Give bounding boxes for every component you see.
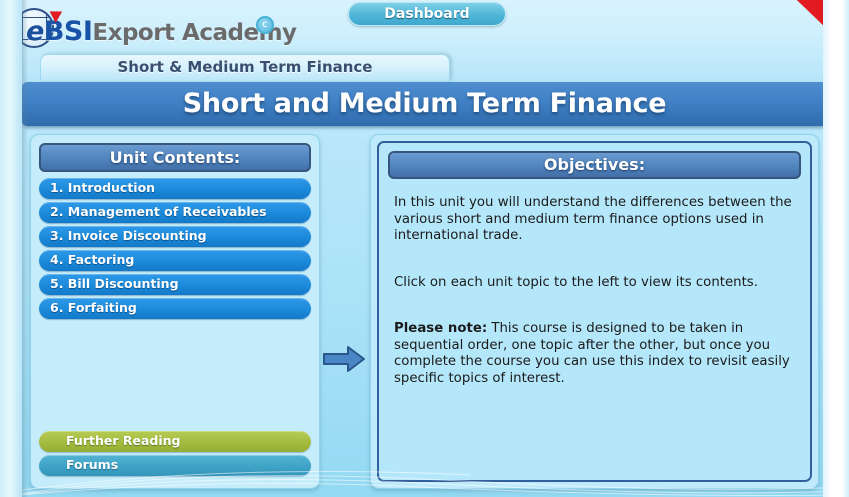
unit-contents-panel: Unit Contents: 1. Introduction 2. Manage… [30,134,320,489]
unit-contents-list: 1. Introduction 2. Management of Receiva… [39,178,311,319]
dashboard-button[interactable]: Dashboard [348,2,506,26]
sidebar-item-introduction[interactable]: 1. Introduction [39,178,311,199]
content-area: Short and Medium Term Finance Unit Conte… [22,82,827,497]
objectives-panel-inner: Objectives: In this unit you will unders… [377,141,812,482]
forums-button[interactable]: Forums [39,455,311,476]
page-title: Short and Medium Term Finance [22,82,827,126]
breadcrumb-tab[interactable]: Short & Medium Term Finance [40,54,450,81]
sidebar-item-forfaiting[interactable]: 6. Forfaiting [39,298,311,319]
further-reading-button[interactable]: Further Reading [39,431,311,452]
objectives-panel: Objectives: In this unit you will unders… [370,134,819,489]
objectives-paragraph-1: In this unit you will understand the dif… [394,195,795,245]
frame-shadow-left [22,0,28,497]
logo-prefix: e [26,16,44,47]
course-page: eBSIExport Academy c Dashboard Short & M… [0,0,849,497]
sidebar-links: Further Reading Forums [39,431,311,479]
page-frame-right [823,0,849,497]
objectives-paragraph-2: Click on each unit topic to the left to … [394,275,795,292]
sidebar-item-factoring[interactable]: 4. Factoring [39,250,311,271]
arrow-right-icon [322,344,366,374]
sidebar-item-invoice-discounting[interactable]: 3. Invoice Discounting [39,226,311,247]
objectives-heading: Objectives: [388,151,801,179]
objectives-note: Please note: This course is designed to … [394,321,795,387]
page-frame-left [0,0,22,497]
sidebar-item-management-of-receivables[interactable]: 2. Management of Receivables [39,202,311,223]
objectives-body: In this unit you will understand the dif… [388,195,801,387]
copyright-icon: c [256,16,274,34]
sidebar-item-bill-discounting[interactable]: 5. Bill Discounting [39,274,311,295]
unit-contents-heading: Unit Contents: [39,143,311,172]
objectives-note-label: Please note: [394,321,487,336]
brand-logo[interactable]: eBSIExport Academy [12,6,297,50]
logo-brand: BSI [44,16,93,47]
app-header: eBSIExport Academy c Dashboard Short & M… [0,0,849,86]
